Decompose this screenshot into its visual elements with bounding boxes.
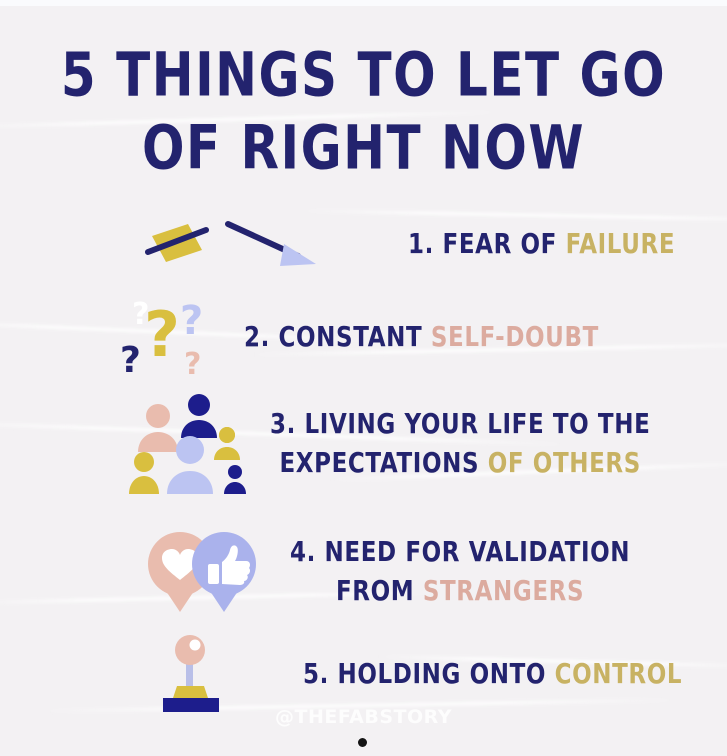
bottom-dot-marker bbox=[358, 738, 367, 747]
infographic-poster: 5 THINGS TO LET GO OF RIGHT NOW 1. FEAR … bbox=[0, 0, 727, 756]
page-title-line-2: OF RIGHT NOW bbox=[0, 111, 727, 184]
list-item-2-text: 2. CONSTANT SELF-DOUBT bbox=[244, 319, 599, 358]
page-title-line-1: 5 THINGS TO LET GO bbox=[0, 38, 727, 111]
list-item-5-plain: 5. HOLDING ONTO bbox=[303, 659, 555, 690]
list-item-4: 4. NEED FOR VALIDATION FROM STRANGERS bbox=[142, 528, 630, 618]
list-item-3-line-1: 3. LIVING YOUR LIFE TO THE bbox=[270, 406, 650, 445]
list-item-1-plain: 1. FEAR OF bbox=[408, 229, 566, 260]
list-item-1: 1. FEAR OF FAILURE bbox=[140, 208, 675, 282]
list-item-4-line-2: FROM STRANGERS bbox=[290, 573, 630, 612]
heart-and-thumbs-up-pins-icon bbox=[142, 528, 262, 618]
list-item-3-text: 3. LIVING YOUR LIFE TO THE EXPECTATIONS … bbox=[270, 406, 650, 484]
group-of-people-icon bbox=[128, 390, 248, 500]
arrow-miss-target-icon bbox=[140, 208, 340, 282]
list-item-4-text: 4. NEED FOR VALIDATION FROM STRANGERS bbox=[290, 534, 630, 612]
svg-text:?: ? bbox=[180, 298, 203, 344]
list-item-5-highlight: CONTROL bbox=[555, 659, 683, 690]
top-edge-strip bbox=[0, 0, 727, 6]
svg-text:?: ? bbox=[184, 347, 201, 382]
watermark-handle: @THEFABSTORY bbox=[0, 706, 727, 728]
svg-text:?: ? bbox=[144, 298, 180, 371]
list-item-3: 3. LIVING YOUR LIFE TO THE EXPECTATIONS … bbox=[128, 390, 650, 500]
list-item-2-highlight: SELF-DOUBT bbox=[431, 322, 599, 353]
list-item-1-text: 1. FEAR OF FAILURE bbox=[408, 226, 675, 265]
list-item-4-plain: FROM bbox=[336, 577, 423, 608]
list-item-2: ? ? ? ? ? 2. CONSTANT SELF-DOUBT bbox=[118, 290, 599, 386]
list-item-3-line-2: EXPECTATIONS OF OTHERS bbox=[270, 445, 650, 484]
page-title: 5 THINGS TO LET GO OF RIGHT NOW bbox=[0, 38, 727, 184]
question-marks-icon: ? ? ? ? ? bbox=[118, 290, 226, 386]
list-item-4-highlight: STRANGERS bbox=[423, 577, 584, 608]
list-item-4-line-1: 4. NEED FOR VALIDATION bbox=[290, 534, 630, 573]
list-item-1-highlight: FAILURE bbox=[566, 229, 676, 260]
list-item-2-plain: 2. CONSTANT bbox=[244, 322, 431, 353]
list-item-5-text: 5. HOLDING ONTO CONTROL bbox=[303, 656, 682, 695]
list-item-3-plain: EXPECTATIONS bbox=[280, 449, 488, 480]
svg-text:?: ? bbox=[120, 340, 141, 381]
list-item-3-highlight: OF OTHERS bbox=[488, 449, 641, 480]
